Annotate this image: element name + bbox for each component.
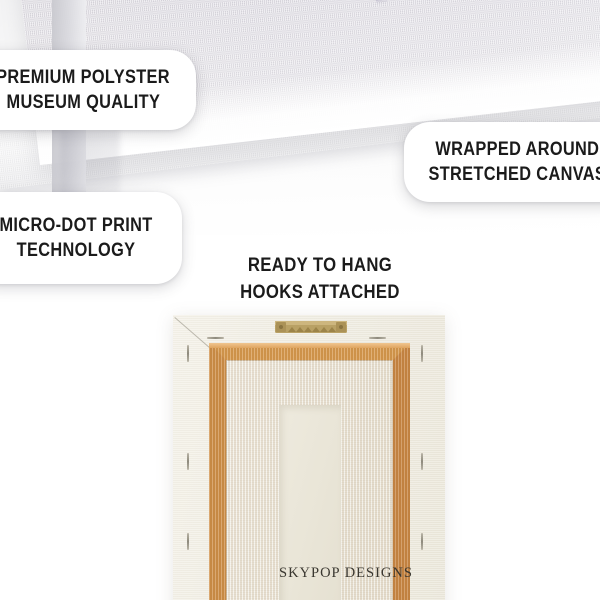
feature-line-1: MICRO-DOT PRINT: [0, 213, 153, 238]
staple-left-1: [187, 345, 189, 362]
feature-line-1: PREMIUM POLYSTER: [0, 65, 170, 90]
feature-line-1: WRAPPED AROUND: [435, 137, 599, 162]
brush-stroke-2: [341, 0, 387, 5]
staple-top-right: [369, 337, 386, 339]
wooden-stretcher-frame: SKYPOP DESIGNS: [209, 343, 410, 600]
feature-label-micro-dot-print: MICRO-DOT PRINT TECHNOLOGY: [0, 192, 182, 284]
canvas-back-photo: SKYPOP DESIGNS: [173, 315, 445, 600]
staple-left-3: [187, 533, 189, 550]
feature-label-wrapped-canvas: WRAPPED AROUND STRETCHED CANVAS: [404, 122, 600, 202]
sawtooth-hanger-icon: [275, 320, 347, 335]
feature-line-2: TECHNOLOGY: [17, 238, 136, 263]
staple-left-2: [187, 453, 189, 470]
brand-name: SKYPOP DESIGNS: [279, 565, 341, 582]
feature-line-2: STRETCHED CANVAS: [428, 162, 600, 187]
staple-top-left: [207, 337, 224, 339]
wood-top-highlight: [209, 343, 410, 348]
feature-label-ready-to-hang: READY TO HANG HOOKS ATTACHED: [205, 252, 435, 306]
staple-right-3: [421, 533, 423, 550]
staple-right-2: [421, 453, 423, 470]
infographic-canvas: PREMIUM POLYSTER MUSEUM QUALITY WRAPPED …: [0, 0, 600, 600]
brand-block: SKYPOP DESIGNS: [279, 565, 341, 582]
feature-line-1: READY TO HANG: [219, 252, 421, 279]
feature-line-2: HOOKS ATTACHED: [219, 279, 421, 306]
staple-right-1: [421, 345, 423, 362]
feature-label-premium-polyster: PREMIUM POLYSTER MUSEUM QUALITY: [0, 50, 196, 130]
canvas-inner-back-panel: SKYPOP DESIGNS: [279, 405, 341, 600]
feature-line-2: MUSEUM QUALITY: [6, 90, 160, 115]
